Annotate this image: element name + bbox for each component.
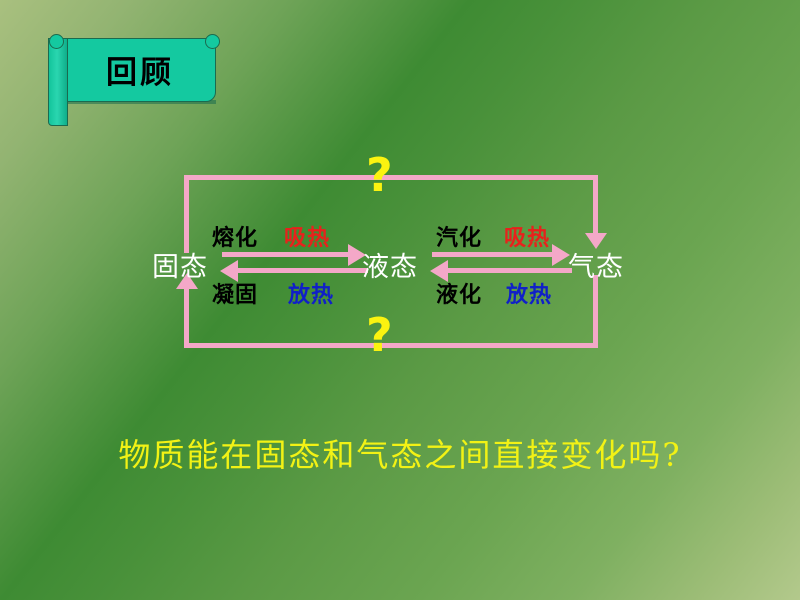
outer-top-right-vertical [593, 175, 598, 237]
state-label-gas: 气态 [568, 245, 624, 284]
transition-heat-vaporization: 吸热 [504, 220, 550, 252]
scroll-curl-left-icon [49, 34, 64, 49]
outer-top-left-vertical [184, 175, 189, 253]
transition-name-solidification: 凝固 [212, 277, 258, 309]
liquefaction-arrow-shaft [448, 268, 572, 273]
phase-change-diagram: 固态 液态 气态 熔化 吸热 凝固 放热 汽化 吸热 液化 放热 ? ? [0, 140, 800, 380]
state-label-solid: 固态 [152, 245, 208, 284]
question-mark-solid-to-gas: ? [366, 152, 393, 198]
slide-question: 物质能在固态和气态之间直接变化吗? [0, 430, 800, 476]
transition-heat-liquefaction: 放热 [506, 277, 552, 309]
slide-canvas: 回顾 固态 液态 气态 熔化 吸热 凝固 放热 汽化 [0, 0, 800, 600]
transition-name-melting: 熔化 [212, 220, 258, 252]
outer-bottom-right-vertical [593, 275, 598, 345]
transition-name-vaporization: 汽化 [436, 220, 482, 252]
transition-heat-solidification: 放热 [288, 277, 334, 309]
melting-arrow-shaft [222, 252, 350, 257]
banner-title: 回顾 [64, 38, 216, 100]
scroll-banner: 回顾 [46, 30, 232, 108]
transition-heat-melting: 吸热 [284, 220, 330, 252]
vaporization-arrow-shaft [432, 252, 554, 257]
transition-name-liquefaction: 液化 [436, 277, 482, 309]
state-label-liquid: 液态 [362, 245, 418, 284]
solidification-arrow-shaft [238, 268, 368, 273]
question-mark-gas-to-solid: ? [366, 312, 393, 358]
outer-bottom-left-vertical [184, 288, 189, 345]
